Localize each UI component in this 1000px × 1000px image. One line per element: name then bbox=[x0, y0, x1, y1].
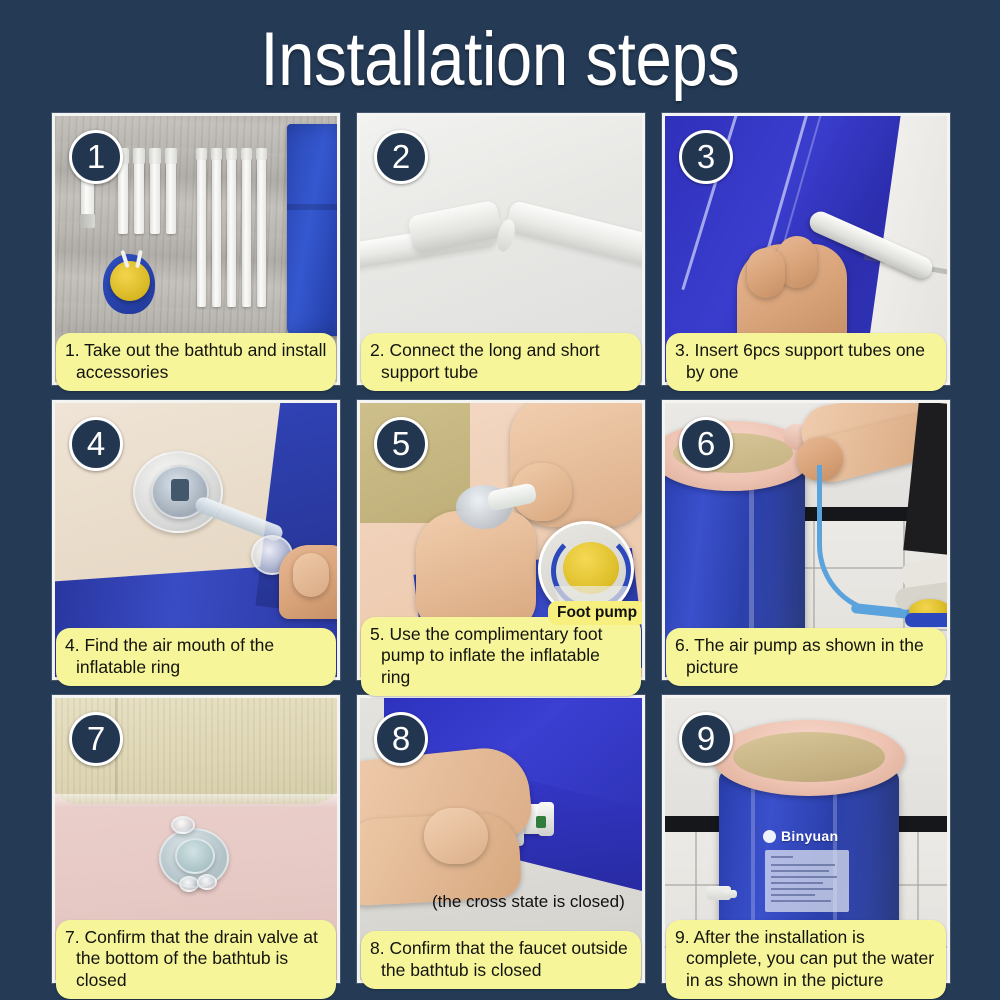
tube-cap-icon bbox=[80, 214, 95, 228]
step-card-7: 7 7. Confirm that the drain valve at the… bbox=[52, 695, 340, 983]
tube-cap-icon bbox=[133, 148, 145, 164]
step-caption: 5. Use the complimentary foot pump to in… bbox=[361, 617, 641, 697]
step-card-4: 4 4. Find the air mouth of the inflatabl… bbox=[52, 400, 340, 680]
step-card-3: 3 3. Insert 6pcs support tubes one by on… bbox=[662, 113, 950, 385]
step-caption: 4. Find the air mouth of the inflatable … bbox=[56, 628, 336, 686]
cross-state-note: (the cross state is closed) bbox=[432, 892, 625, 912]
tube-cap-icon bbox=[196, 148, 207, 160]
tube-cap-icon bbox=[226, 148, 237, 160]
step-number-badge: 8 bbox=[374, 712, 428, 766]
long-support-tube bbox=[212, 152, 221, 307]
foot-pump-disc bbox=[110, 261, 150, 301]
long-support-tube bbox=[257, 152, 266, 307]
tube-cap-icon bbox=[256, 148, 267, 160]
hand-lower bbox=[416, 511, 536, 631]
step-card-1: 1 1. Take out the bathtub and install ac… bbox=[52, 113, 340, 385]
step-number-badge: 1 bbox=[69, 130, 123, 184]
steps-grid: 1 1. Take out the bathtub and install ac… bbox=[52, 113, 950, 991]
brand-logo-icon bbox=[763, 830, 776, 843]
step-caption: 2. Connect the long and short support tu… bbox=[361, 333, 641, 391]
step-number-badge: 3 bbox=[679, 130, 733, 184]
step-number-badge: 9 bbox=[679, 712, 733, 766]
step-card-9: Binyuan 9 bbox=[662, 695, 950, 983]
foot-pump-label: Foot pump bbox=[548, 601, 642, 625]
spec-label bbox=[765, 850, 849, 912]
long-support-tube bbox=[197, 152, 206, 307]
step-number-badge: 5 bbox=[374, 417, 428, 471]
tube-cap-icon bbox=[241, 148, 252, 160]
tube-cap-icon bbox=[211, 148, 222, 160]
step-number-badge: 4 bbox=[69, 417, 123, 471]
valve-tab bbox=[171, 816, 195, 834]
step-number-badge: 2 bbox=[374, 130, 428, 184]
step-caption: 1. Take out the bathtub and install acce… bbox=[56, 333, 336, 391]
faucet-indicator bbox=[536, 816, 546, 828]
long-support-tube bbox=[242, 152, 251, 307]
pump-base bbox=[905, 613, 947, 627]
support-tube bbox=[166, 154, 176, 234]
long-support-tube bbox=[227, 152, 236, 307]
drain-tip bbox=[723, 890, 737, 898]
finger bbox=[424, 808, 488, 864]
brand-name: Binyuan bbox=[781, 828, 838, 844]
valve-tab bbox=[179, 876, 199, 892]
infographic-page: Installation steps bbox=[0, 0, 1000, 1000]
step-number-badge: 7 bbox=[69, 712, 123, 766]
valve-tab bbox=[197, 874, 217, 890]
tube-cap-icon bbox=[165, 148, 177, 164]
valve-plug bbox=[171, 479, 189, 501]
bag-fold bbox=[287, 204, 337, 210]
blue-bathtub-bag bbox=[287, 124, 337, 336]
short-tube bbox=[505, 200, 642, 272]
step-card-2: 2 2. Connect the long and short support … bbox=[357, 113, 645, 385]
thumb bbox=[293, 553, 329, 597]
step-caption: 8. Confirm that the faucet outside the b… bbox=[361, 931, 641, 989]
page-title: Installation steps bbox=[70, 18, 930, 102]
cloth-hem bbox=[55, 794, 337, 808]
step-caption: 3. Insert 6pcs support tubes one by one bbox=[666, 333, 946, 391]
step-number-badge: 6 bbox=[679, 417, 733, 471]
support-tube bbox=[150, 154, 160, 234]
step-card-6: 6 6. The air pump as shown in the pictur… bbox=[662, 400, 950, 680]
step-caption: 6. The air pump as shown in the picture bbox=[666, 628, 946, 686]
tub-interior-liner bbox=[733, 732, 885, 782]
step-caption: 7. Confirm that the drain valve at the b… bbox=[56, 920, 336, 1000]
tube-cap-icon bbox=[149, 148, 161, 164]
step-card-8: (the cross state is closed) 8 8. Confirm… bbox=[357, 695, 645, 983]
drain-valve-cap bbox=[175, 838, 215, 874]
support-tube bbox=[134, 154, 144, 234]
step-card-5: Foot pump 5 5. Use the complimentary foo… bbox=[357, 400, 645, 680]
finger bbox=[747, 248, 785, 298]
step-caption: 9. After the installation is complete, y… bbox=[666, 920, 946, 1000]
